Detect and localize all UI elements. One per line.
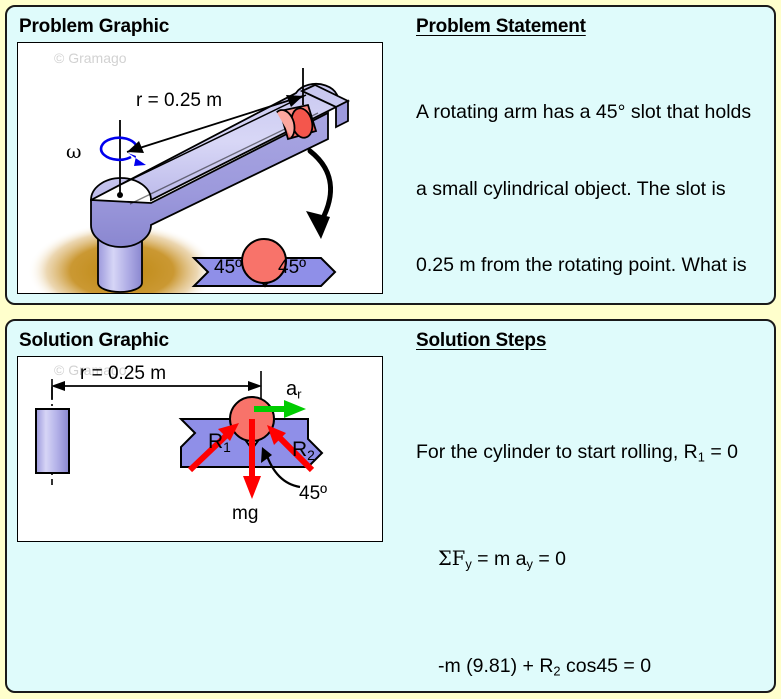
callout-curved-arrow (306, 151, 331, 239)
solution-graphic-title: Solution Graphic (19, 330, 169, 352)
solution-panel: Solution Graphic Solution Steps © Gramag… (5, 319, 776, 693)
solution-radius-label: r = 0.25 m (80, 363, 166, 385)
step-line-3: -m (9.81) + R2 cos45 = 0 (416, 654, 747, 684)
problem-statement-title: Problem Statement (416, 16, 586, 38)
problem-omega-label: ω (66, 141, 82, 163)
acceleration-label: ar (286, 378, 302, 402)
reaction-1-label: R1 (208, 430, 231, 455)
step-line-2: ΣFy = m ay = 0 (416, 546, 747, 577)
omega-arrowhead (128, 153, 146, 166)
pivot-point (117, 192, 123, 198)
problem-graphic-title: Problem Graphic (19, 16, 169, 38)
left-cylinder (36, 409, 69, 473)
problem-diagram (18, 43, 383, 294)
problem-angle-right-label: 45º (278, 257, 306, 279)
statement-line-1: a small cylindrical object. The slot is (416, 177, 751, 203)
step-line-1: For the cylinder to start rolling, R1 = … (416, 440, 747, 470)
solution-figure-box: © Gramago (17, 356, 383, 542)
problem-panel: Problem Graphic Problem Statement © Gram… (5, 5, 776, 305)
solution-diagram (18, 357, 383, 542)
problem-radius-label: r = 0.25 m (136, 90, 222, 112)
problem-watermark: © Gramago (54, 50, 127, 66)
solution-steps-text: For the cylinder to start rolling, R1 = … (416, 363, 747, 699)
problem-figure-box: © Gramago (17, 42, 383, 294)
reaction-2-label: R2 (292, 438, 315, 463)
weight-label: mg (232, 503, 258, 525)
statement-line-0: A rotating arm has a 45° slot that holds (416, 100, 751, 126)
solution-angle-label: 45º (299, 483, 327, 505)
solution-steps-title: Solution Steps (416, 330, 546, 352)
problem-angle-left-label: 45º (214, 257, 242, 279)
page-root: Problem Graphic Problem Statement © Gram… (0, 0, 781, 699)
statement-line-2: 0.25 m from the rotating point. What is (416, 253, 751, 279)
